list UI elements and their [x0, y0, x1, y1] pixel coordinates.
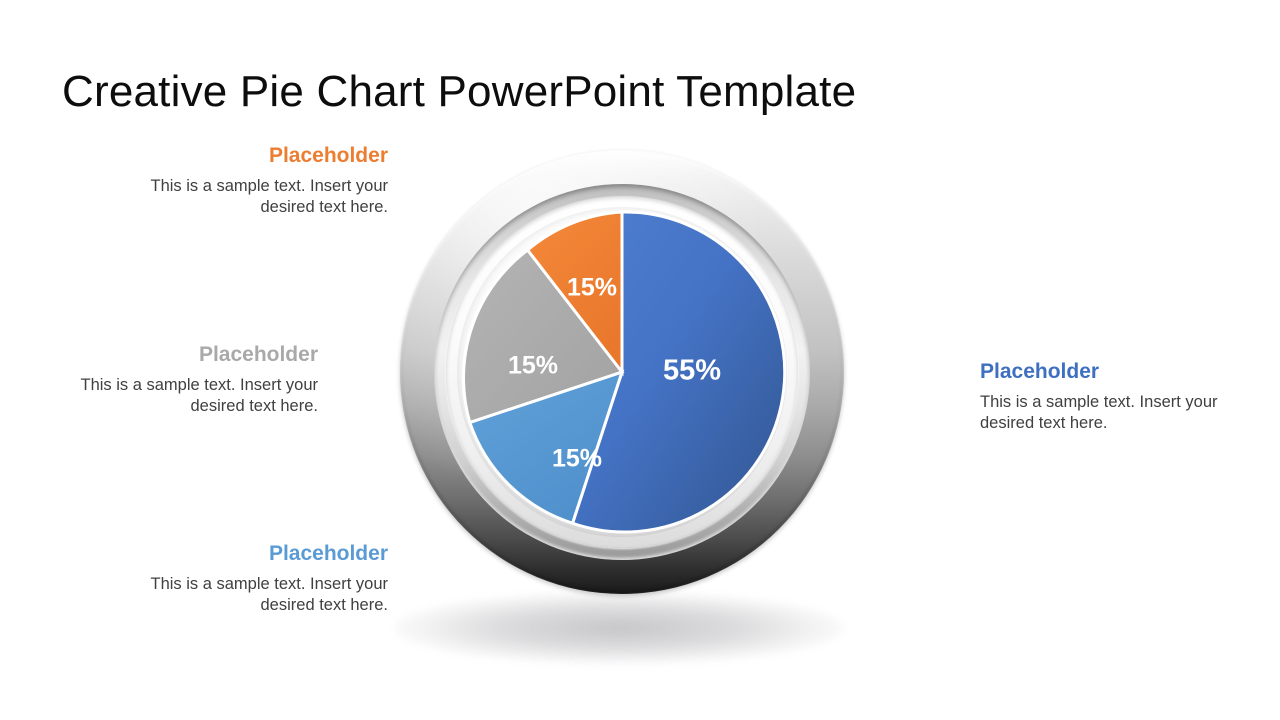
pie-label-orange: 15%: [567, 274, 617, 302]
callout-light-blue-body: This is a sample text. Insert your desir…: [118, 574, 388, 616]
pie-label-dark-blue: 55%: [663, 355, 721, 387]
callout-gray[interactable]: Placeholder This is a sample text. Inser…: [48, 343, 318, 417]
callout-orange[interactable]: Placeholder This is a sample text. Inser…: [118, 144, 388, 218]
callout-dark-blue[interactable]: Placeholder This is a sample text. Inser…: [980, 360, 1232, 434]
pie-label-gray: 15%: [508, 352, 558, 380]
callout-dark-blue-heading: Placeholder: [980, 360, 1232, 383]
callout-light-blue-heading: Placeholder: [118, 542, 388, 565]
callout-orange-heading: Placeholder: [118, 144, 388, 167]
callout-orange-body: This is a sample text. Insert your desir…: [118, 176, 388, 218]
callout-gray-heading: Placeholder: [48, 343, 318, 366]
pie-label-light-blue: 15%: [552, 445, 602, 473]
chart-drop-shadow: [394, 592, 844, 664]
pie-chart[interactable]: 55% 15% 15% 15%: [457, 207, 787, 537]
page-title: Creative Pie Chart PowerPoint Template: [62, 67, 856, 117]
callout-light-blue[interactable]: Placeholder This is a sample text. Inser…: [118, 542, 388, 616]
callout-dark-blue-body: This is a sample text. Insert your desir…: [980, 392, 1232, 434]
callout-gray-body: This is a sample text. Insert your desir…: [48, 375, 318, 417]
pie-chart-assembly[interactable]: 55% 15% 15% 15%: [382, 140, 862, 670]
slide-canvas: Creative Pie Chart PowerPoint Template P…: [0, 0, 1280, 720]
pie-chart-svg: 55% 15% 15% 15%: [457, 207, 787, 537]
